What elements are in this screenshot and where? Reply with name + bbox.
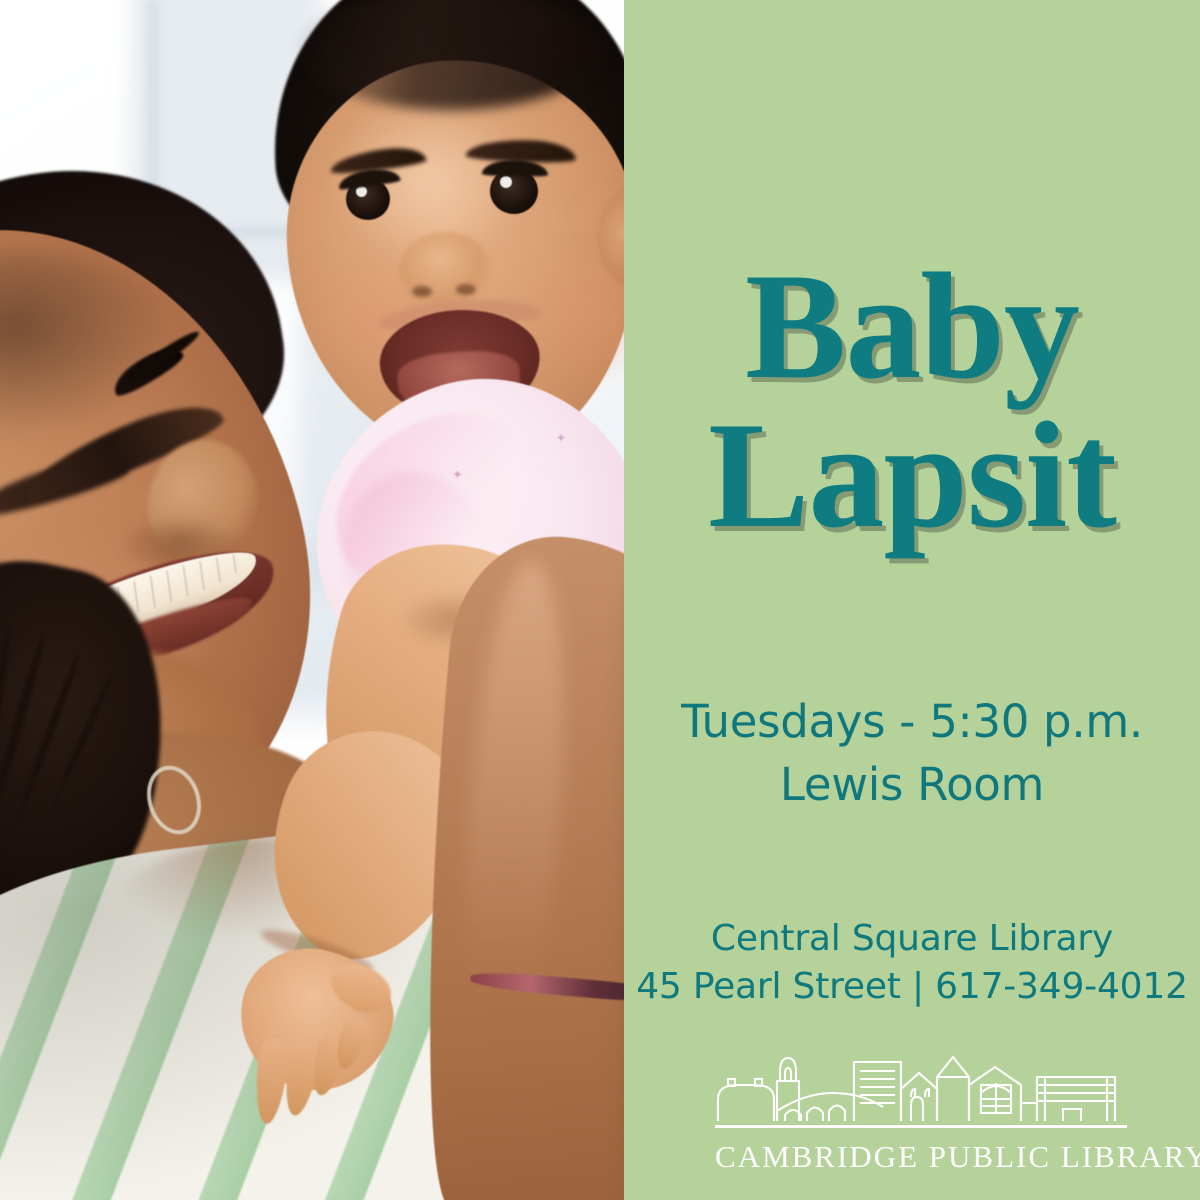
event-room: Lewis Room <box>624 753 1200 816</box>
venue-address: Central Square Library 45 Pearl Street |… <box>624 915 1200 1010</box>
outfit-star-print: ✦ <box>452 468 463 481</box>
baby-eye-highlight <box>500 176 512 188</box>
venue-name: Central Square Library <box>624 915 1200 963</box>
event-title: Baby Lapsit <box>624 252 1200 550</box>
venue-street-and-phone: 45 Pearl Street | 617-349-4012 <box>624 963 1200 1011</box>
event-title-line-1: Baby <box>624 252 1200 401</box>
logo-wordmark: CAMBRIDGE PUBLIC LIBRARY <box>715 1139 1127 1175</box>
event-day-time: Tuesdays - 5:30 p.m. <box>624 690 1200 753</box>
info-panel: Baby Lapsit Tuesdays - 5:30 p.m. Lewis R… <box>624 0 1200 1200</box>
event-poster: ✦ ✦ ✦ ✦ ✦ Baby Lapsit Tuesdays - 5:30 p.… <box>0 0 1200 1200</box>
cambridge-skyline-icon <box>715 1055 1127 1123</box>
event-schedule: Tuesdays - 5:30 p.m. Lewis Room <box>624 690 1200 816</box>
logo-divider-rule <box>715 1125 1127 1128</box>
baby-nostril <box>456 284 476 295</box>
outfit-star-print: ✦ <box>556 432 566 444</box>
event-title-line-2: Lapsit <box>624 401 1200 550</box>
photo-mother-and-baby: ✦ ✦ ✦ ✦ ✦ <box>0 0 624 1200</box>
library-logo: CAMBRIDGE PUBLIC LIBRARY <box>715 1055 1127 1175</box>
baby-nostril <box>412 286 432 297</box>
baby-nose <box>398 232 492 308</box>
